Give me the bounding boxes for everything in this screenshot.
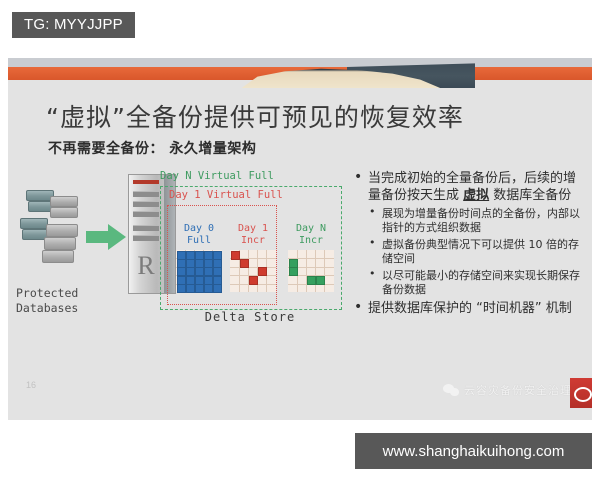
data-block [240, 259, 249, 268]
page-number: 16 [26, 380, 36, 390]
arrow-shaft [86, 231, 110, 243]
grid-line [230, 267, 276, 268]
backup-column-dayn: Day NIncr [285, 223, 337, 292]
data-block [307, 276, 316, 285]
website-url: www.shanghaikuihong.com [383, 443, 565, 460]
block-grid-day1 [230, 250, 276, 292]
decorative-banner [8, 58, 592, 88]
grid-line [315, 250, 316, 292]
column-label-line2: Full [173, 235, 225, 247]
protected-label-line2: Databases [16, 301, 116, 316]
rack-accent [133, 180, 159, 184]
backup-column-day0: Day 0Full [173, 223, 225, 292]
bullet-level-1: 当完成初始的全量备份后，后续的增量备份按天生成 虚拟 数据库全备份 [352, 170, 588, 204]
day-n-virtual-full-box: Day 1 Virtual Full Day 0FullDay 1IncrDay… [160, 186, 342, 310]
grid-line [248, 250, 249, 292]
brand-logo [570, 378, 592, 408]
wechat-watermark: 云容灾备份安全治理 [443, 382, 572, 398]
data-block [249, 276, 258, 285]
block-grid-day0 [176, 250, 222, 292]
grid-line [306, 250, 307, 292]
column-label-line1: Day 1 [227, 223, 279, 235]
column-label-line1: Day 0 [173, 223, 225, 235]
protected-label-line1: Protected [16, 286, 116, 301]
block-grid-dayn [288, 250, 334, 292]
database-icon [46, 224, 78, 237]
bullet-level-2: 虚拟备份典型情况下可以提供 10 倍的存储空间 [352, 238, 588, 266]
watermark-text: 云容灾备份安全治理 [464, 382, 572, 398]
page-title: “虚拟”全备份提供可预见的恢复效率 [46, 98, 464, 134]
bullet-level-1: 提供数据库保护的 “时间机器” 机制 [352, 300, 588, 317]
data-block [289, 267, 298, 276]
data-block [204, 284, 213, 293]
column-label-line2: Incr [227, 235, 279, 247]
protected-databases-icons [20, 190, 80, 270]
data-block [316, 276, 325, 285]
tg-badge: TG: MYYJJPP [12, 12, 135, 38]
database-icon [42, 250, 74, 263]
data-block [258, 267, 267, 276]
bullet-emphasis: 虚拟 [463, 188, 489, 203]
bullet-level-2: 展现为增量备份时间点的全备份，内部以指针的方式组织数据 [352, 207, 588, 235]
rack-bay [133, 225, 159, 231]
data-block [195, 284, 204, 293]
data-block [213, 284, 222, 293]
database-icon [44, 237, 76, 250]
day-n-virtual-full-label: Day N Virtual Full [160, 170, 274, 182]
database-icon [20, 218, 48, 229]
data-block [186, 284, 195, 293]
day-1-virtual-full-label: Day 1 Virtual Full [169, 189, 283, 201]
bullet-list: 当完成初始的全量备份后，后续的增量备份按天生成 虚拟 数据库全备份展现为增量备份… [352, 170, 588, 320]
wechat-bubble-small [450, 388, 459, 396]
rack-bay [133, 235, 159, 241]
website-url-bar: www.shanghaikuihong.com [355, 433, 592, 469]
rack-bay [133, 191, 159, 197]
architecture-diagram: R Protected Databases Day N Virtual Full… [20, 168, 350, 353]
bullet-level-2: 以尽可能最小的存储空间来实现长期保存备份数据 [352, 269, 588, 297]
data-block [231, 251, 240, 260]
delta-store-label: Delta Store [160, 310, 340, 324]
logo-ring-icon [574, 387, 592, 402]
rack-letter: R [131, 253, 161, 279]
wechat-icon [443, 384, 459, 397]
database-icon [50, 207, 78, 218]
database-icon [50, 196, 78, 207]
rack-bay [133, 201, 159, 207]
protected-databases-label: Protected Databases [16, 286, 116, 316]
column-label-line1: Day N [285, 223, 337, 235]
rack-bay [133, 211, 159, 217]
flow-arrow-icon [86, 224, 126, 250]
data-block [177, 284, 186, 293]
backup-column-day1: Day 1Incr [227, 223, 279, 292]
column-label-line2: Incr [285, 235, 337, 247]
banner-sky [8, 58, 592, 67]
grid-line [324, 250, 325, 292]
page-subtitle: 不再需要全备份： 永久增量架构 [48, 138, 256, 158]
arrow-head [108, 224, 126, 250]
